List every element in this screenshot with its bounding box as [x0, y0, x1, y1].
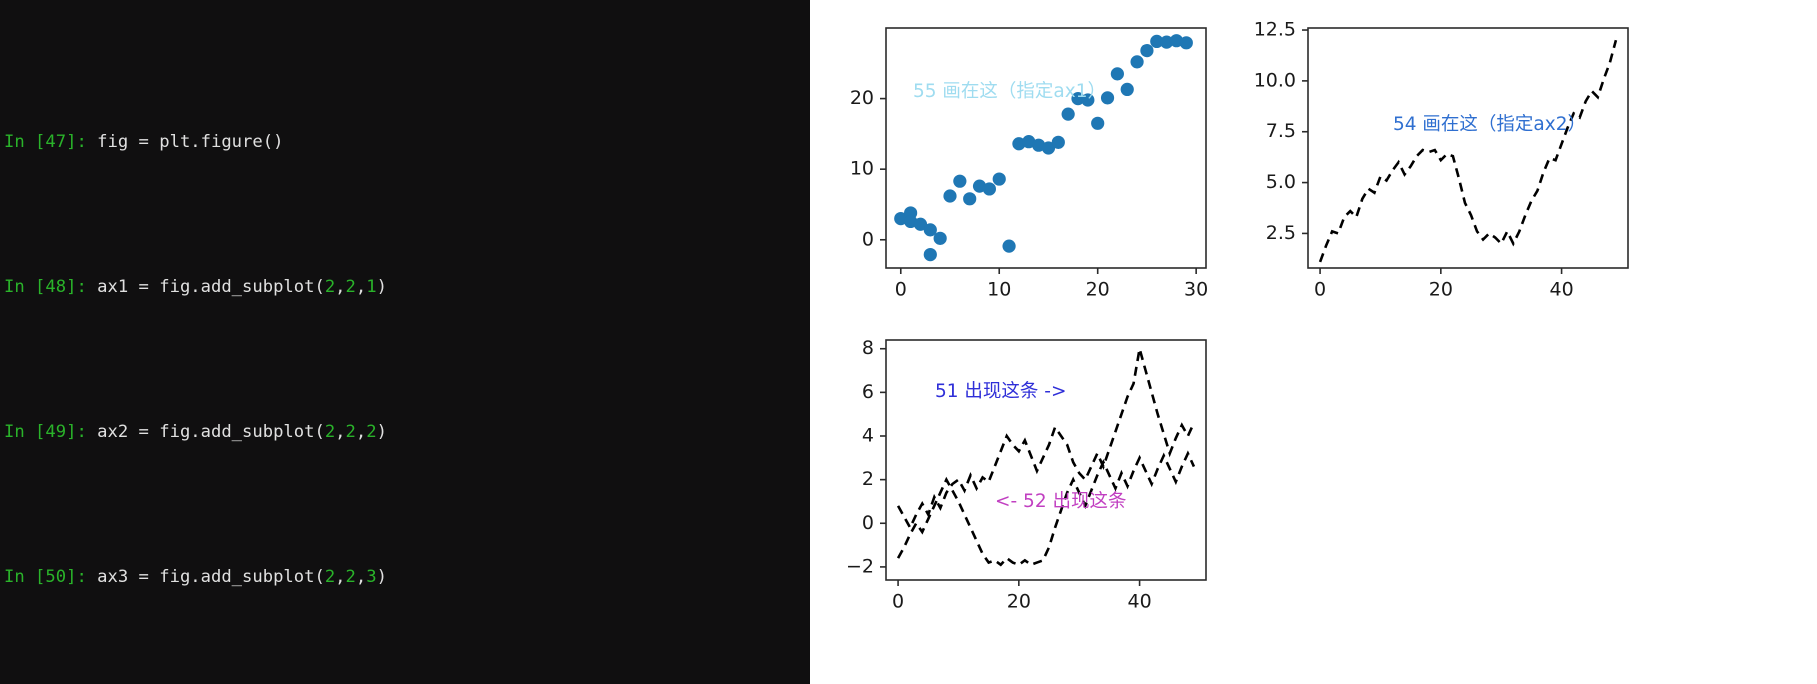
- console-line-in-49: In [49]: ax2 = fig.add_subplot(2,2,2): [4, 422, 810, 443]
- ax2-ytick-label: 2.5: [1266, 222, 1296, 244]
- ax2-annotation: 54 画在这（指定ax2）: [1393, 110, 1586, 136]
- screen: In [47]: fig = plt.figure() In [48]: ax1…: [0, 0, 1817, 684]
- ax2-ytick-label: 5.0: [1266, 171, 1296, 193]
- matplotlib-figure: 010203001020 55 画在这（指定ax1） 020402.55.07.…: [810, 0, 1817, 684]
- ax2-xtick-label: 40: [1549, 279, 1573, 301]
- ax1-xtick-label: 0: [895, 279, 907, 301]
- ax2-ytick-label: 10.0: [1254, 69, 1296, 91]
- ax3-ytick-label: 2: [862, 468, 874, 490]
- ax3-ytick-label: 6: [862, 381, 874, 403]
- subplot-ax3: 02040−202468 51 出现这条 -> <- 52 出现这条: [810, 320, 1230, 684]
- console-line-in-47: In [47]: fig = plt.figure(): [4, 132, 810, 153]
- ax1-annotation: 55 画在这（指定ax1）: [913, 77, 1106, 103]
- ax3-ytick-label: 0: [862, 512, 874, 534]
- ax1-xtick-label: 30: [1184, 279, 1208, 301]
- ax3-xtick-label: 20: [1007, 591, 1031, 613]
- ax2-xtick-label: 0: [1314, 279, 1326, 301]
- ax3-ytick-label: 4: [862, 425, 874, 447]
- ax1-ytick-label: 10: [850, 158, 874, 180]
- ax2-ytick-label: 12.5: [1254, 19, 1296, 41]
- ax3-frame: [886, 340, 1206, 580]
- console-line-in-48: In [48]: ax1 = fig.add_subplot(2,2,1): [4, 277, 810, 298]
- ax3-ytick-label: −2: [846, 555, 874, 577]
- ipython-console[interactable]: In [47]: fig = plt.figure() In [48]: ax1…: [0, 0, 810, 684]
- ax1-xtick-label: 10: [987, 279, 1011, 301]
- ax1-xtick-label: 20: [1086, 279, 1110, 301]
- subplot-ax2: 020402.55.07.510.012.5 54 画在这（指定ax2）: [1230, 0, 1817, 320]
- ax2-xtick-label: 20: [1429, 279, 1453, 301]
- ax1-canvas: 010203001020: [810, 0, 1230, 320]
- ax3-annotation-51: 51 出现这条 ->: [935, 377, 1066, 403]
- ax3-xtick-label: 0: [892, 591, 904, 613]
- ax2-frame: [1308, 28, 1628, 268]
- ax1-ytick-label: 0: [862, 228, 874, 250]
- subplot-ax1: 010203001020 55 画在这（指定ax1）: [810, 0, 1230, 320]
- ax2-canvas: 020402.55.07.510.012.5: [1230, 0, 1817, 320]
- ax1-ytick-label: 20: [850, 87, 874, 109]
- ax2-ytick-label: 7.5: [1266, 120, 1296, 142]
- ax3-xtick-label: 40: [1127, 591, 1151, 613]
- ax3-annotation-52: <- 52 出现这条: [995, 487, 1126, 513]
- console-line-in-50: In [50]: ax3 = fig.add_subplot(2,2,3): [4, 567, 810, 588]
- ax3-ytick-label: 8: [862, 337, 874, 359]
